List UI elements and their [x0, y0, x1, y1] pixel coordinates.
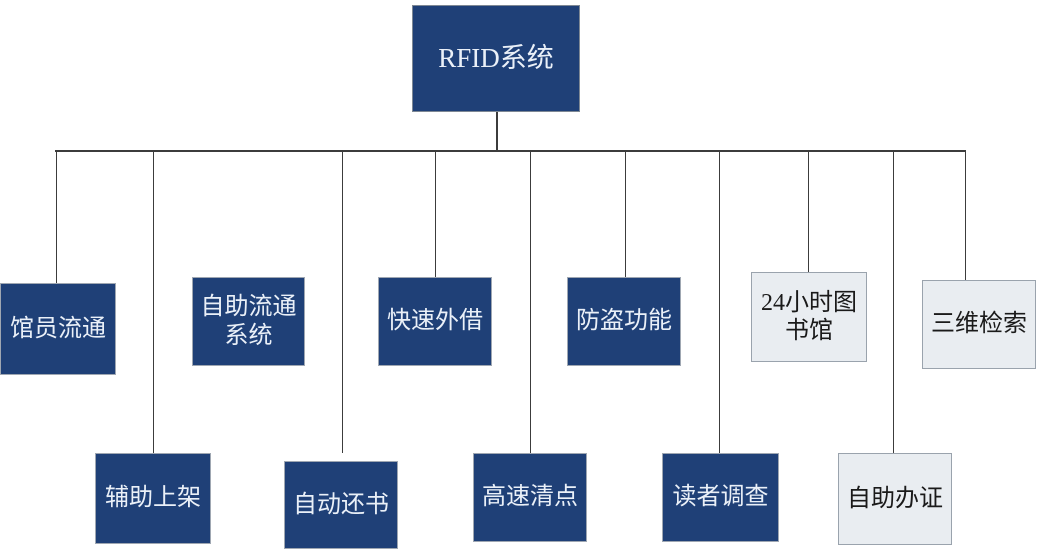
node-label: 三维检索 [923, 310, 1035, 338]
node-fuzhu-shangjia[interactable]: 辅助上架 [95, 453, 211, 544]
connector-drop-zidong-huanshu [342, 150, 343, 453]
node-fangdao-gongneng[interactable]: 防盗功能 [567, 277, 681, 366]
node-label: 自助办证 [839, 485, 951, 513]
connector-drop-guanyuan-liutong [56, 150, 57, 283]
node-label: 自助流通 系统 [193, 293, 304, 350]
node-label: RFID系统 [413, 43, 579, 75]
node-label: 馆员流通 [1, 315, 115, 343]
connector-drop-24xiaoshi-tushuguan [808, 150, 809, 272]
connector-horizontal-bus [55, 150, 966, 152]
node-zizhu-banzheng[interactable]: 自助办证 [838, 453, 952, 545]
node-guanyuan-liutong[interactable]: 馆员流通 [0, 283, 116, 375]
connector-drop-zizhu-banzheng [893, 150, 894, 453]
node-sanwei-jiansuo[interactable]: 三维检索 [922, 280, 1036, 369]
node-zidong-huanshu[interactable]: 自动还书 [284, 461, 398, 549]
node-label: 防盗功能 [568, 307, 680, 335]
node-zizhu-liutong-xitong[interactable]: 自助流通 系统 [192, 277, 305, 366]
node-24xiaoshi-tushuguan[interactable]: 24小时图 书馆 [751, 272, 867, 362]
connector-drop-duzhe-diaocha [719, 150, 720, 453]
connector-drop-fuzhu-shangjia [153, 150, 154, 453]
connector-drop-kuaisu-waijie [435, 150, 436, 277]
node-duzhe-diaocha[interactable]: 读者调查 [662, 453, 779, 542]
node-label: 快速外借 [379, 307, 491, 335]
connector-drop-fangdao-gongneng [625, 150, 626, 277]
node-label: 24小时图 书馆 [752, 289, 866, 346]
node-label: 高速清点 [474, 483, 586, 511]
node-label: 自动还书 [285, 491, 397, 519]
node-gaosu-qingdian[interactable]: 高速清点 [473, 453, 587, 542]
rfid-system-hierarchy-diagram: RFID系统 馆员流通 自助流通 系统 快速外借 防盗功能 24小时图 书馆 三… [0, 0, 1037, 549]
node-label: 读者调查 [663, 483, 778, 511]
node-kuaisu-waijie[interactable]: 快速外借 [378, 277, 492, 366]
connector-root-stem [496, 112, 498, 151]
node-label: 辅助上架 [96, 484, 210, 512]
connector-drop-gaosu-qingdian [530, 150, 531, 453]
connector-drop-sanwei-jiansuo [965, 150, 966, 280]
node-root-rfid-system[interactable]: RFID系统 [412, 5, 580, 112]
